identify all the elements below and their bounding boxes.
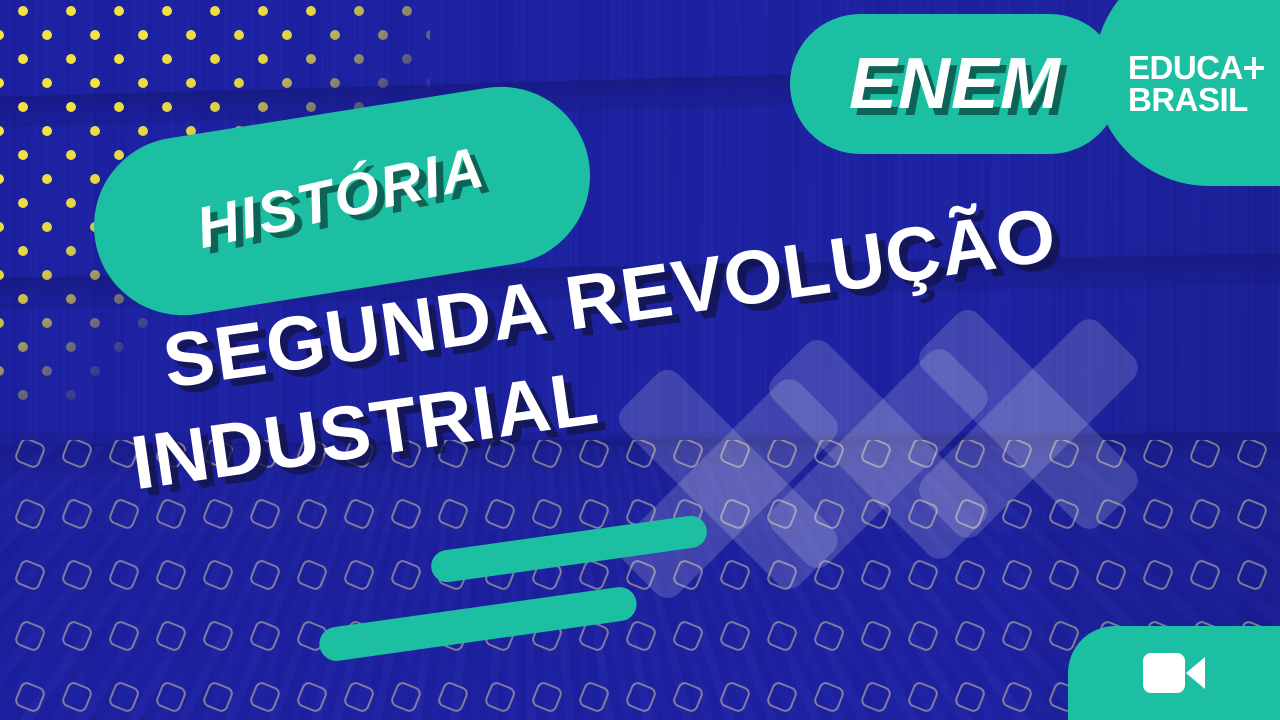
dot: [18, 342, 28, 352]
hexagon: [624, 440, 658, 470]
dot: [42, 174, 52, 184]
hexagon: [1235, 497, 1269, 531]
brand-logo-line2: BRASIL: [1128, 84, 1265, 116]
hexagon: [577, 680, 611, 714]
hexagon: [201, 497, 235, 531]
hexagon: [812, 558, 846, 592]
hexagon: [60, 497, 94, 531]
hexagon: [906, 440, 940, 470]
hexagon: [342, 497, 376, 531]
dot: [0, 174, 4, 184]
hexagon: [765, 680, 799, 714]
hexagon: [530, 680, 564, 714]
dot: [90, 174, 100, 184]
hexagon: [1000, 558, 1034, 592]
dot: [18, 390, 28, 400]
dot: [42, 126, 52, 136]
dot: [378, 30, 388, 40]
hexagon: [1235, 440, 1269, 470]
hexagon: [859, 497, 893, 531]
hexagon: [389, 680, 423, 714]
dot: [210, 54, 220, 64]
dot: [42, 30, 52, 40]
hexagon: [765, 440, 799, 470]
hexagon: [906, 558, 940, 592]
hexagon: [1047, 440, 1081, 470]
dot: [0, 366, 4, 376]
hexagon: [201, 619, 235, 653]
dot: [66, 198, 76, 208]
hexagon: [906, 497, 940, 531]
dot: [42, 318, 52, 328]
hexagon: [906, 680, 940, 714]
hexagon: [295, 680, 329, 714]
dot: [66, 102, 76, 112]
hexagon: [1188, 497, 1222, 531]
dot: [186, 78, 196, 88]
hexagon: [436, 680, 470, 714]
dot: [258, 54, 268, 64]
hexagon: [624, 558, 658, 592]
dot: [162, 102, 172, 112]
thumbnail-canvas: HISTÓRIA ENEM EDUCA BRASIL SEGUNDA REVOL…: [0, 0, 1280, 720]
hexagon: [812, 497, 846, 531]
dot: [90, 318, 100, 328]
dot: [90, 126, 100, 136]
hexagon: [107, 619, 141, 653]
dot: [210, 102, 220, 112]
hexagon: [953, 497, 987, 531]
hexagon: [248, 619, 282, 653]
hexagon: [248, 558, 282, 592]
hexagon: [1141, 558, 1175, 592]
hexagon: [812, 680, 846, 714]
dot: [18, 198, 28, 208]
dot: [306, 6, 316, 16]
hexagon: [859, 558, 893, 592]
dot: [66, 150, 76, 160]
dot: [354, 54, 364, 64]
exam-badge-label: ENEM: [849, 43, 1061, 125]
hexagon: [812, 619, 846, 653]
dot: [138, 30, 148, 40]
hexagon: [624, 680, 658, 714]
dot: [162, 54, 172, 64]
hexagon: [107, 680, 141, 714]
subject-badge-label: HISTÓRIA: [191, 133, 492, 262]
hexagon: [483, 680, 517, 714]
hexagon: [1094, 497, 1128, 531]
dot: [90, 78, 100, 88]
hexagon: [953, 680, 987, 714]
hexagon: [530, 497, 564, 531]
dot: [66, 54, 76, 64]
hexagon: [1235, 558, 1269, 592]
hexagon: [60, 680, 94, 714]
dot: [258, 102, 268, 112]
dot: [42, 270, 52, 280]
dot: [0, 126, 4, 136]
dot: [90, 366, 100, 376]
dot: [18, 54, 28, 64]
dot: [282, 78, 292, 88]
hexagon: [60, 558, 94, 592]
dot: [114, 6, 124, 16]
dot: [18, 150, 28, 160]
dot: [0, 318, 4, 328]
hexagon: [953, 558, 987, 592]
dot: [42, 78, 52, 88]
hexagon: [671, 680, 705, 714]
video-camera-icon: [1143, 653, 1205, 693]
video-badge[interactable]: [1068, 626, 1280, 720]
dot: [18, 102, 28, 112]
hexagon: [13, 619, 47, 653]
hexagon: [154, 619, 188, 653]
hexagon: [718, 440, 752, 470]
dot: [0, 270, 4, 280]
hexagon: [577, 497, 611, 531]
hexagon: [765, 497, 799, 531]
hexagon: [1000, 440, 1034, 470]
dot: [162, 6, 172, 16]
hexagon: [765, 619, 799, 653]
hexagon: [1000, 680, 1034, 714]
dot: [114, 54, 124, 64]
hexagon: [1047, 497, 1081, 531]
hexagon: [13, 497, 47, 531]
hexagon: [624, 619, 658, 653]
hexagon: [906, 619, 940, 653]
hexagon: [201, 680, 235, 714]
hexagon: [1141, 497, 1175, 531]
hexagon: [812, 440, 846, 470]
hexagon: [107, 497, 141, 531]
dot: [18, 294, 28, 304]
hexagon: [342, 680, 376, 714]
hexagon: [1094, 558, 1128, 592]
hexagon: [859, 680, 893, 714]
dot: [114, 150, 124, 160]
dot: [282, 30, 292, 40]
dot: [306, 54, 316, 64]
hexagon: [1188, 440, 1222, 470]
dot: [402, 6, 412, 16]
dot: [114, 294, 124, 304]
hexagon: [765, 558, 799, 592]
hexagon: [295, 558, 329, 592]
hexagon: [60, 440, 94, 470]
hexagon: [13, 680, 47, 714]
dot: [402, 54, 412, 64]
hexagon: [953, 440, 987, 470]
dot: [0, 222, 4, 232]
dot: [18, 6, 28, 16]
dot: [186, 30, 196, 40]
dot: [354, 6, 364, 16]
dot: [426, 30, 430, 40]
dot: [258, 6, 268, 16]
plus-icon: [1243, 55, 1265, 81]
dot: [42, 222, 52, 232]
hexagon: [483, 497, 517, 531]
hexagon: [342, 558, 376, 592]
hexagon: [859, 440, 893, 470]
hexagon: [1047, 558, 1081, 592]
exam-badge-enem: ENEM: [790, 14, 1120, 154]
dot: [66, 342, 76, 352]
hexagon: [1000, 619, 1034, 653]
hexagon: [295, 497, 329, 531]
dot: [66, 294, 76, 304]
hexagon: [859, 619, 893, 653]
dot: [210, 6, 220, 16]
dot: [0, 30, 4, 40]
hexagon: [436, 497, 470, 531]
dot: [18, 246, 28, 256]
dot: [378, 78, 388, 88]
hexagon: [1094, 440, 1128, 470]
hexagon: [1000, 497, 1034, 531]
brand-logo: EDUCA BRASIL: [1128, 52, 1265, 117]
hexagon: [107, 558, 141, 592]
hexagon: [671, 558, 705, 592]
hexagon: [154, 680, 188, 714]
hexagon: [13, 440, 47, 470]
hexagon: [1141, 440, 1175, 470]
dot: [90, 30, 100, 40]
hexagon: [60, 619, 94, 653]
hexagon: [389, 558, 423, 592]
dot: [66, 390, 76, 400]
hexagon: [671, 440, 705, 470]
dot: [330, 30, 340, 40]
dot: [42, 366, 52, 376]
dot: [0, 78, 4, 88]
hexagon: [201, 558, 235, 592]
hexagon: [13, 558, 47, 592]
hexagon: [248, 680, 282, 714]
hexagon: [718, 558, 752, 592]
dot: [138, 78, 148, 88]
dot: [66, 6, 76, 16]
hexagon: [718, 619, 752, 653]
hexagon: [953, 619, 987, 653]
dot: [426, 78, 430, 88]
hexagon: [671, 619, 705, 653]
dot: [234, 30, 244, 40]
hexagon: [718, 680, 752, 714]
hexagon: [154, 558, 188, 592]
dot: [66, 246, 76, 256]
dot: [90, 270, 100, 280]
dot: [234, 78, 244, 88]
hexagon: [389, 497, 423, 531]
hexagon: [1188, 558, 1222, 592]
hexagon: [718, 497, 752, 531]
dot: [306, 102, 316, 112]
dot: [138, 126, 148, 136]
hexagon: [248, 497, 282, 531]
dot: [114, 102, 124, 112]
dot: [330, 78, 340, 88]
